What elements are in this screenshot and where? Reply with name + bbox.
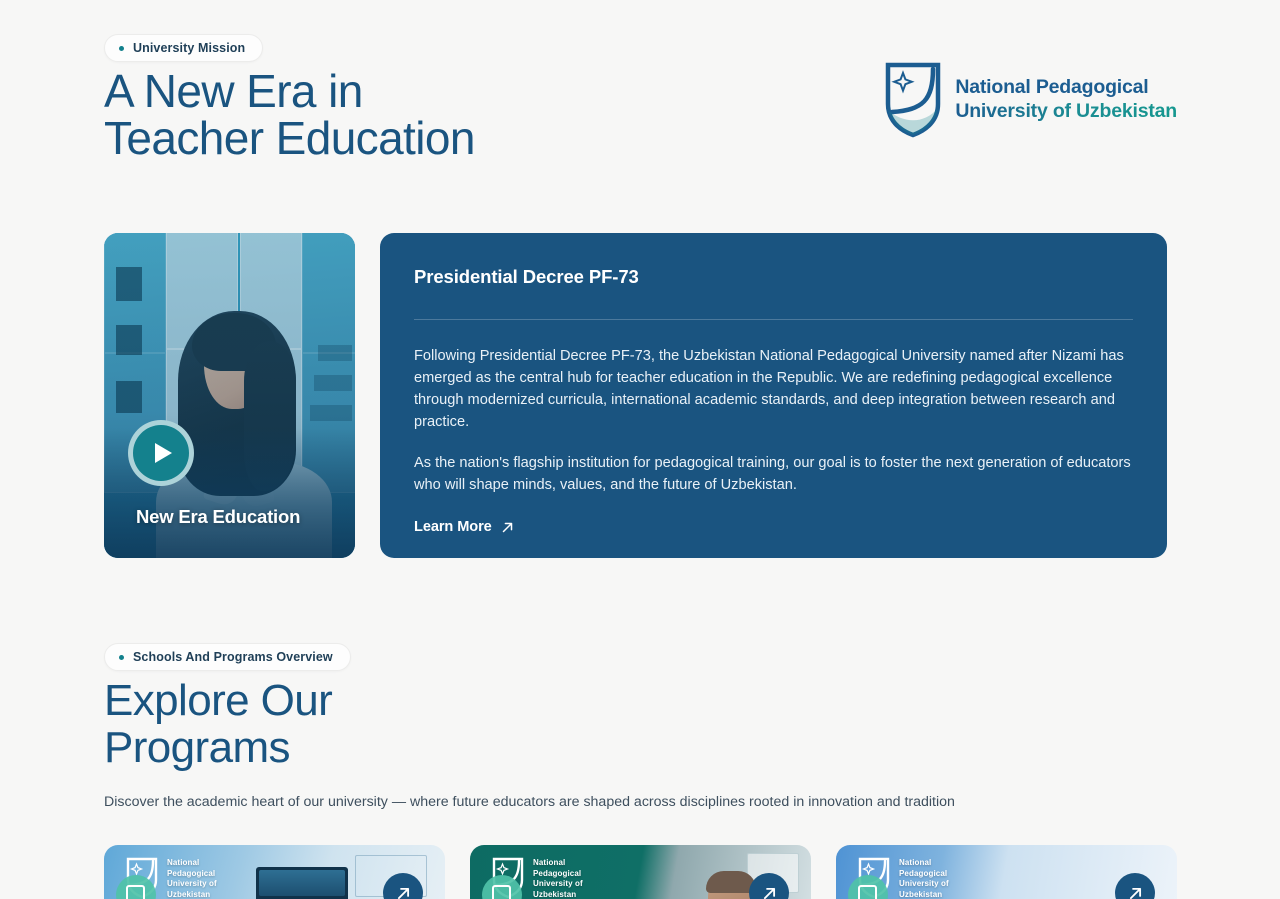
logo-text-line-2: Pedagogical — [899, 869, 949, 880]
decree-card-title: Presidential Decree PF-73 — [414, 266, 1133, 288]
programs-title-line-2: Programs — [104, 724, 332, 771]
university-logo[interactable]: National Pedagogical University of Uzbek… — [883, 60, 1177, 138]
logo-text-line-1: National — [899, 858, 949, 869]
programs-title-line-1: Explore Our — [104, 677, 332, 724]
learn-more-label: Learn More — [414, 519, 492, 535]
arrow-up-right-icon — [1128, 886, 1143, 899]
decree-paragraph-2: As the nation's flagship institution for… — [414, 452, 1133, 496]
programs-subtitle: Discover the academic heart of our unive… — [104, 792, 955, 812]
logo-wordmark: National Pedagogical University of Uzbek… — [955, 75, 1177, 123]
badge-dot-icon — [119, 46, 124, 51]
logo-text-line-2: Pedagogical — [533, 869, 583, 880]
programs-badge: Schools And Programs Overview — [104, 643, 351, 671]
page-root: University Mission A New Era in Teacher … — [0, 0, 1280, 899]
arrow-up-right-icon — [396, 886, 411, 899]
logo-line-1: National Pedagogical — [955, 75, 1177, 99]
badge-dot-icon — [119, 655, 124, 660]
hero-badge: University Mission — [104, 34, 263, 62]
hero-title-line-2: Teacher Education — [104, 115, 475, 162]
play-icon — [155, 443, 172, 463]
logo-line-2: University of Uzbekistan — [955, 99, 1177, 123]
decree-paragraph-1: Following Presidential Decree PF-73, the… — [414, 345, 1133, 433]
logo-text-line-1: National — [533, 858, 583, 869]
logo-text-line-3: University of — [167, 879, 217, 890]
program-card-logo-text: National Pedagogical University of Uzbek… — [533, 856, 583, 899]
video-caption: New Era Education — [136, 506, 300, 528]
program-card-logo-text: National Pedagogical University of Uzbek… — [167, 856, 217, 899]
program-card-logo-text: National Pedagogical University of Uzbek… — [899, 856, 949, 899]
programs-badge-label: Schools And Programs Overview — [133, 650, 333, 664]
logo-text-line-3: University of — [533, 879, 583, 890]
shield-star-icon — [883, 60, 943, 138]
programs-title: Explore Our Programs — [104, 677, 332, 771]
book-icon — [492, 885, 511, 899]
programs-card-row: National Pedagogical University of Uzbek… — [104, 845, 1176, 899]
program-card[interactable]: National Pedagogical University of Uzbek… — [104, 845, 445, 899]
presidential-decree-card: Presidential Decree PF-73 Following Pres… — [380, 233, 1167, 558]
page-title: A New Era in Teacher Education — [104, 68, 475, 162]
video-preview-card[interactable]: New Era Education — [104, 233, 355, 558]
decree-divider — [414, 319, 1133, 320]
book-icon — [126, 885, 145, 899]
arrow-up-right-icon — [762, 886, 777, 899]
program-card[interactable]: National Pedagogical University of Uzbek… — [470, 845, 811, 899]
logo-text-line-4: Uzbekistan — [167, 890, 217, 899]
program-card[interactable]: National Pedagogical University of Uzbek… — [836, 845, 1177, 899]
play-button[interactable] — [128, 420, 194, 486]
logo-text-line-3: University of — [899, 879, 949, 890]
logo-text-line-2: Pedagogical — [167, 869, 217, 880]
learn-more-link[interactable]: Learn More — [414, 519, 514, 535]
hero-badge-label: University Mission — [133, 41, 245, 55]
logo-text-line-4: Uzbekistan — [899, 890, 949, 899]
logo-text-line-4: Uzbekistan — [533, 890, 583, 899]
book-icon — [858, 885, 877, 899]
logo-text-line-1: National — [167, 858, 217, 869]
hero-title-line-1: A New Era in — [104, 68, 475, 115]
arrow-up-right-icon — [501, 521, 514, 534]
